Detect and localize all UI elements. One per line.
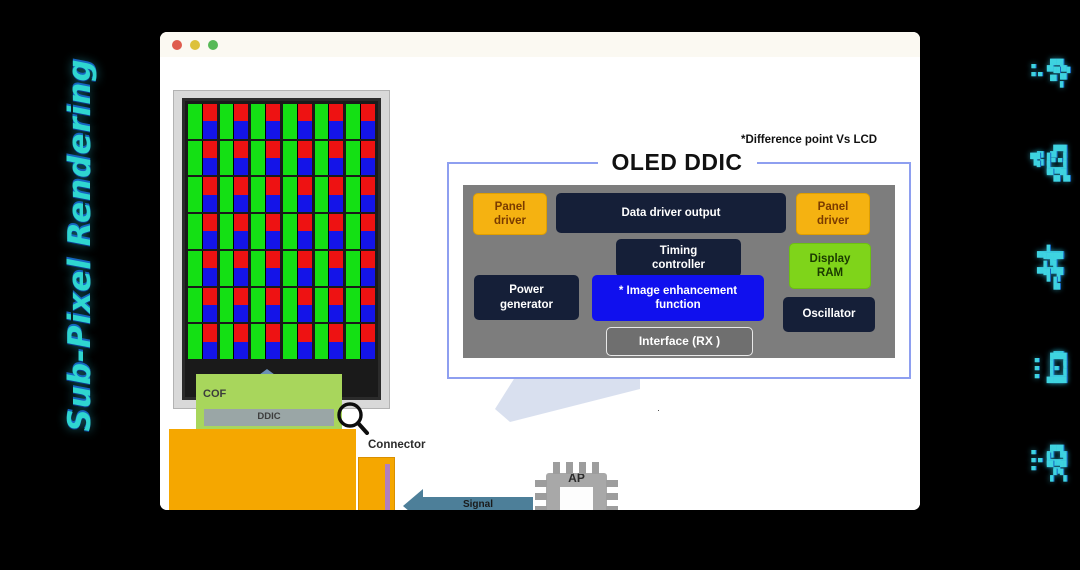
subpixel-cell [251, 288, 280, 323]
subpixel-cell [220, 141, 249, 176]
subpixel-red-blue-stack [298, 177, 312, 212]
subpixel-green [251, 214, 265, 249]
subpixel-green [188, 251, 202, 286]
subpixel-green [315, 324, 329, 359]
subpixel-red [266, 288, 280, 305]
subpixel-blue [298, 195, 312, 212]
subpixel-red-blue-stack [266, 177, 280, 212]
close-button[interactable] [172, 40, 182, 50]
subpixel-green [188, 141, 202, 176]
subpixel-green [315, 251, 329, 286]
subpixel-red-blue-stack [266, 104, 280, 139]
subpixel-red [234, 288, 248, 305]
subpixel-cell [346, 214, 375, 249]
subpixel-cell [315, 288, 344, 323]
subpixel-red-blue-stack [203, 288, 217, 323]
block-oscillator[interactable]: Oscillator [783, 297, 875, 332]
decorative-glyph-icon-4: ▗▄ ▪ ▐▀▜ ▪ ▐▪▐ ▪ ▐▄▟ ▀▀▀ [1022, 348, 1078, 388]
subpixel-red-blue-stack [361, 177, 375, 212]
subpixel-red [298, 324, 312, 341]
subpixel-cell [251, 324, 280, 359]
ddic-label: DDIC [204, 411, 334, 422]
subpixel-green [220, 214, 234, 249]
diagram-canvas: OLED Panel COF DDIC FPCB Connector Sig [160, 57, 920, 510]
subpixel-red-blue-stack [203, 214, 217, 249]
subpixel-blue [361, 158, 375, 175]
ap-pin-right [606, 506, 618, 510]
subpixel-blue [298, 342, 312, 359]
subpixel-green [188, 177, 202, 212]
subpixel-green [346, 251, 360, 286]
ap-pin-top [579, 462, 586, 474]
subpixel-red [361, 214, 375, 231]
subpixel-green [315, 104, 329, 139]
subpixel-red-blue-stack [329, 288, 343, 323]
subpixel-cell [283, 141, 312, 176]
subpixel-red [203, 104, 217, 121]
subpixel-cell [251, 214, 280, 249]
subpixel-red [234, 251, 248, 268]
subpixel-red-blue-stack [234, 251, 248, 286]
oled-panel-module: OLED Panel [173, 90, 390, 409]
subpixel-blue [361, 231, 375, 248]
subpixel-blue [234, 268, 248, 285]
subpixel-blue [266, 231, 280, 248]
subpixel-green [220, 288, 234, 323]
subpixel-red [329, 251, 343, 268]
ddic-die-area: Paneldriver Data driver output Paneldriv… [463, 185, 895, 358]
subpixel-red-blue-stack [298, 141, 312, 176]
ddic-boundary: Paneldriver Data driver output Paneldriv… [447, 162, 911, 379]
subpixel-red-blue-stack [298, 288, 312, 323]
signal-label: Signal [423, 499, 533, 510]
subpixel-cell [315, 251, 344, 286]
ap-chip-core [560, 487, 593, 510]
subpixel-cell [315, 214, 344, 249]
subpixel-red [266, 141, 280, 158]
subpixel-blue [361, 268, 375, 285]
subpixel-red [234, 104, 248, 121]
subpixel-cell [346, 141, 375, 176]
subpixel-red [298, 214, 312, 231]
subpixel-red [298, 177, 312, 194]
subpixel-red-blue-stack [361, 104, 375, 139]
subpixel-blue [266, 195, 280, 212]
subpixel-cell [346, 177, 375, 212]
block-timing-controller[interactable]: Timingcontroller [616, 239, 741, 277]
subpixel-row [188, 324, 375, 359]
decorative-glyph-column: ▪ ▗▛▜▖ ▪▪ ▝▚▞ ▝▘▖ ▗▖▗▛▜ ▜▚▐▪▪▌ ▘▐▄▄▌ ▝▚▞… [1020, 0, 1080, 570]
subpixel-cell [315, 324, 344, 359]
subpixel-red [329, 324, 343, 341]
subpixel-red-blue-stack [329, 214, 343, 249]
subpixel-blue [329, 305, 343, 322]
subpixel-blue [329, 195, 343, 212]
ddic-chip: DDIC [204, 409, 334, 426]
subpixel-red-blue-stack [203, 324, 217, 359]
subpixel-cell [188, 104, 217, 139]
subpixel-blue [329, 342, 343, 359]
subpixel-red [329, 288, 343, 305]
subpixel-cell [251, 141, 280, 176]
subpixel-red [298, 141, 312, 158]
subpixel-green [251, 251, 265, 286]
subpixel-red [266, 214, 280, 231]
subpixel-blue [329, 158, 343, 175]
ap-pin-top [553, 462, 560, 474]
subpixel-red [361, 251, 375, 268]
subpixel-cell [346, 288, 375, 323]
page-title: Sub-Pixel Rendering [62, 50, 98, 440]
subpixel-cell [188, 251, 217, 286]
subpixel-green [315, 141, 329, 176]
subpixel-red [361, 177, 375, 194]
subpixel-cell [315, 177, 344, 212]
subpixel-red-blue-stack [203, 177, 217, 212]
subpixel-green [188, 104, 202, 139]
subpixel-red-blue-stack [234, 141, 248, 176]
connector-block [358, 457, 395, 510]
subpixel-green [346, 214, 360, 249]
subpixel-red-blue-stack [234, 177, 248, 212]
subpixel-blue [234, 195, 248, 212]
subpixel-blue [298, 121, 312, 138]
ap-pin-left [535, 506, 547, 510]
subpixel-cell [315, 104, 344, 139]
subpixel-red [329, 177, 343, 194]
subpixel-green [346, 141, 360, 176]
subpixel-blue [361, 305, 375, 322]
decorative-glyph-icon-5: ▪ ▗▛▜▖ ▪▪▐▄▄▌ ▪ ▝▚▞▘ ▗▘▚ [1022, 448, 1078, 480]
subpixel-cell [188, 214, 217, 249]
subpixel-blue [298, 268, 312, 285]
subpixel-blue [266, 268, 280, 285]
subpixel-red [266, 251, 280, 268]
subpixel-green [188, 214, 202, 249]
block-interface-rx[interactable]: Interface (RX ) [606, 327, 753, 356]
subpixel-cell [283, 251, 312, 286]
subpixel-cell [283, 104, 312, 139]
subpixel-green [251, 141, 265, 176]
subpixel-red [203, 177, 217, 194]
subpixel-red-blue-stack [203, 104, 217, 139]
subpixel-red-blue-stack [329, 104, 343, 139]
subpixel-red-blue-stack [234, 324, 248, 359]
subpixel-row [188, 214, 375, 249]
subpixel-green [315, 288, 329, 323]
subpixel-red-blue-stack [329, 141, 343, 176]
subpixel-cell [220, 288, 249, 323]
subpixel-blue [266, 305, 280, 322]
subpixel-green [220, 324, 234, 359]
subpixel-green [346, 288, 360, 323]
subpixel-red-blue-stack [298, 324, 312, 359]
subpixel-blue [203, 342, 217, 359]
subpixel-red-blue-stack [329, 177, 343, 212]
subpixel-green [220, 251, 234, 286]
subpixel-grid [188, 104, 375, 359]
subpixel-red [329, 141, 343, 158]
block-panel-driver-left[interactable]: Paneldriver [473, 193, 547, 235]
subpixel-blue [266, 342, 280, 359]
subpixel-blue [203, 268, 217, 285]
subpixel-red [203, 214, 217, 231]
subpixel-red [361, 288, 375, 305]
fpcb-board: FPCB [169, 429, 356, 510]
subpixel-red [266, 104, 280, 121]
subpixel-green [188, 324, 202, 359]
subpixel-red [203, 288, 217, 305]
subpixel-red-blue-stack [361, 288, 375, 323]
subpixel-red [234, 324, 248, 341]
subpixel-green [346, 177, 360, 212]
ddic-note: *Difference point Vs LCD [741, 134, 877, 146]
subpixel-red-blue-stack [203, 141, 217, 176]
subpixel-red [234, 177, 248, 194]
subpixel-green [283, 141, 297, 176]
subpixel-cell [346, 251, 375, 286]
subpixel-blue [329, 268, 343, 285]
subpixel-red [361, 141, 375, 158]
subpixel-green [346, 324, 360, 359]
subpixel-cell [220, 177, 249, 212]
oled-panel-screen: OLED Panel [182, 98, 381, 400]
subpixel-blue [329, 121, 343, 138]
subpixel-blue [234, 342, 248, 359]
decorative-glyph-icon-3: ▗▄▙▄▖ ▝▜▛▘ ▗▟▄▙▖ ▝▌▐▘ ▐▖ [1022, 248, 1078, 288]
subpixel-green [251, 288, 265, 323]
ap-pin-left [535, 480, 547, 487]
subpixel-blue [234, 158, 248, 175]
subpixel-red-blue-stack [298, 251, 312, 286]
subpixel-cell [188, 288, 217, 323]
subpixel-red [298, 288, 312, 305]
subpixel-red-blue-stack [361, 141, 375, 176]
subpixel-cell [220, 251, 249, 286]
subpixel-blue [298, 231, 312, 248]
subpixel-red-blue-stack [361, 324, 375, 359]
subpixel-blue [203, 305, 217, 322]
subpixel-cell [188, 324, 217, 359]
decorative-glyph-icon-2: ▗▖▗▛▜ ▜▚▐▪▪▌ ▘▐▄▄▌ ▝▚▞▙ [1022, 148, 1078, 180]
subpixel-red [329, 214, 343, 231]
subpixel-green [188, 288, 202, 323]
subpixel-blue [361, 342, 375, 359]
subpixel-blue [298, 305, 312, 322]
subpixel-red-blue-stack [203, 251, 217, 286]
subpixel-green [283, 104, 297, 139]
subpixel-red [298, 251, 312, 268]
subpixel-green [346, 104, 360, 139]
subpixel-row [188, 288, 375, 323]
subpixel-red-blue-stack [298, 214, 312, 249]
ap-pin-top [566, 462, 573, 474]
ap-chip: AP [535, 462, 618, 510]
subpixel-row [188, 104, 375, 139]
subpixel-green [315, 214, 329, 249]
subpixel-red-blue-stack [361, 214, 375, 249]
subpixel-blue [266, 121, 280, 138]
subpixel-green [220, 177, 234, 212]
subpixel-red-blue-stack [266, 214, 280, 249]
subpixel-cell [283, 324, 312, 359]
block-display-ram[interactable]: DisplayRAM [789, 243, 871, 289]
cof-label: COF [203, 388, 226, 400]
subpixel-red [234, 141, 248, 158]
block-data-driver-output[interactable]: Data driver output [556, 193, 786, 233]
side-title-panel: Sub-Pixel Rendering [0, 0, 160, 570]
subpixel-blue [298, 158, 312, 175]
subpixel-green [283, 251, 297, 286]
subpixel-red [203, 141, 217, 158]
subpixel-blue [266, 158, 280, 175]
block-power-generator[interactable]: Powergenerator [474, 275, 579, 320]
subpixel-red-blue-stack [266, 251, 280, 286]
window-titlebar [160, 32, 920, 58]
subpixel-red-blue-stack [298, 104, 312, 139]
subpixel-cell [220, 214, 249, 249]
subpixel-red [329, 104, 343, 121]
subpixel-green [220, 141, 234, 176]
subpixel-cell [251, 251, 280, 286]
subpixel-red-blue-stack [266, 141, 280, 176]
subpixel-row [188, 251, 375, 286]
subpixel-blue [234, 121, 248, 138]
subpixel-red-blue-stack [234, 288, 248, 323]
subpixel-red-blue-stack [266, 324, 280, 359]
minimize-button[interactable] [190, 40, 200, 50]
subpixel-cell [188, 177, 217, 212]
stray-mark: · [657, 405, 660, 415]
block-image-enhancement[interactable]: * Image enhancementfunction [592, 275, 764, 321]
subpixel-red [361, 324, 375, 341]
subpixel-green [283, 177, 297, 212]
app-window: OLED Panel COF DDIC FPCB Connector Sig [160, 32, 920, 510]
subpixel-red [361, 104, 375, 121]
subpixel-red [234, 214, 248, 231]
subpixel-blue [234, 231, 248, 248]
decorative-glyph-icon-1: ▪ ▗▛▜▖ ▪▪ ▝▚▞ ▝▘▖ [1022, 62, 1078, 86]
subpixel-green [315, 177, 329, 212]
subpixel-red [298, 104, 312, 121]
subpixel-cell [346, 104, 375, 139]
subpixel-cell [283, 177, 312, 212]
subpixel-red-blue-stack [329, 251, 343, 286]
subpixel-blue [329, 231, 343, 248]
subpixel-blue [361, 121, 375, 138]
subpixel-blue [361, 195, 375, 212]
connector-pin [385, 464, 390, 510]
subpixel-red-blue-stack [234, 104, 248, 139]
subpixel-row [188, 141, 375, 176]
subpixel-blue [203, 195, 217, 212]
subpixel-cell [251, 177, 280, 212]
signal-arrow-icon: Signal [423, 497, 533, 510]
subpixel-row [188, 177, 375, 212]
block-panel-driver-right[interactable]: Paneldriver [796, 193, 870, 235]
subpixel-cell [251, 104, 280, 139]
subpixel-green [251, 177, 265, 212]
ap-pin-right [606, 480, 618, 487]
subpixel-red-blue-stack [266, 288, 280, 323]
subpixel-green [220, 104, 234, 139]
subpixel-green [283, 214, 297, 249]
subpixel-cell [283, 288, 312, 323]
subpixel-red-blue-stack [234, 214, 248, 249]
subpixel-green [251, 324, 265, 359]
subpixel-red-blue-stack [329, 324, 343, 359]
subpixel-blue [203, 121, 217, 138]
subpixel-cell [315, 141, 344, 176]
connector-label: Connector [368, 439, 426, 451]
subpixel-blue [234, 305, 248, 322]
subpixel-cell [346, 324, 375, 359]
subpixel-red [266, 177, 280, 194]
subpixel-blue [203, 158, 217, 175]
subpixel-green [283, 324, 297, 359]
subpixel-cell [283, 214, 312, 249]
subpixel-cell [220, 324, 249, 359]
subpixel-red [203, 324, 217, 341]
subpixel-red [203, 251, 217, 268]
subpixel-blue [203, 231, 217, 248]
subpixel-cell [188, 141, 217, 176]
ap-pin-right [606, 493, 618, 500]
subpixel-red [266, 324, 280, 341]
ap-pin-top [592, 462, 599, 474]
subpixel-red-blue-stack [361, 251, 375, 286]
subpixel-cell [220, 104, 249, 139]
ap-pin-left [535, 493, 547, 500]
subpixel-green [251, 104, 265, 139]
subpixel-green [283, 288, 297, 323]
maximize-button[interactable] [208, 40, 218, 50]
